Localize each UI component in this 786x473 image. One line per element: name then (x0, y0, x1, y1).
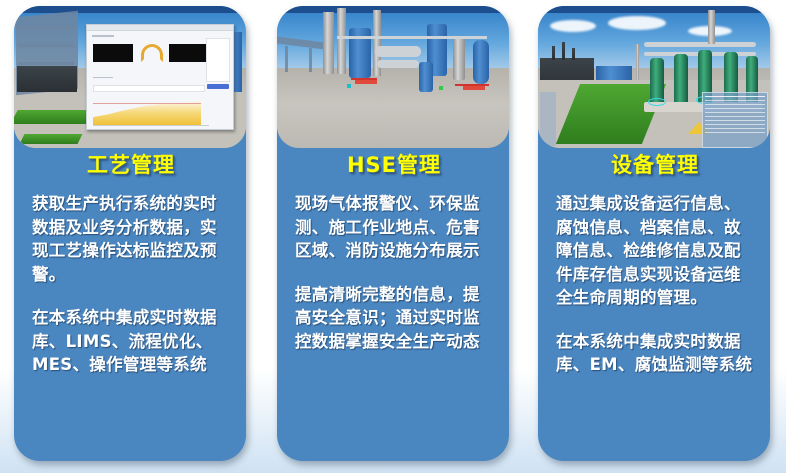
dashboard-chart-baseline (93, 125, 209, 126)
card-2-photo (277, 6, 509, 148)
panel-row (705, 100, 765, 102)
photo-building (17, 66, 77, 92)
card-1-photo (14, 6, 246, 148)
photo-steel-frame-2 (18, 26, 74, 29)
dashboard-area-chart (93, 97, 201, 125)
dashboard-filter-bar (93, 85, 205, 92)
photo-highlight-ring-1 (648, 98, 666, 106)
photo-menubar (14, 6, 246, 13)
photo-alarm-tag-2 (463, 86, 485, 90)
card-1-body: 工艺管理 获取生产执行系统的实时数据及业务分析数据，实现工艺操作达标监控及预警。… (14, 134, 246, 461)
card-3-paragraph-1: 通过集成设备运行信息、腐蚀信息、档案信息、故障信息、检维修信息及配件库存信息实现… (556, 192, 754, 310)
photo-vertical-pipe (708, 10, 715, 44)
photo-stack-3 (572, 48, 575, 60)
panel-row (705, 120, 765, 122)
photo-vessel-4 (473, 40, 489, 84)
card-equipment-management[interactable]: 设备管理 通过集成设备运行信息、腐蚀信息、档案信息、故障信息、检维修信息及配件库… (538, 6, 770, 461)
photo-cloud-2 (608, 16, 666, 30)
photo-gas-detector-marker (347, 84, 351, 88)
photo-pump-2 (674, 54, 688, 106)
photo-vessel-3 (453, 36, 465, 80)
photo-steel-frame-4 (18, 62, 74, 65)
dashboard-kpi-right (169, 44, 209, 62)
panel-row (705, 116, 765, 118)
dashboard-titlebar (87, 25, 233, 31)
photo-steel-frame-3 (18, 44, 74, 47)
panel-header-row (705, 96, 765, 98)
panel-row (705, 104, 765, 106)
photo-stack-1 (552, 46, 555, 60)
panel-row (705, 108, 765, 110)
photo-alarm-tag (355, 80, 377, 84)
dashboard-section-line (93, 77, 113, 78)
photo-stack-2 (562, 42, 565, 60)
panel-row (705, 128, 765, 130)
panel-row (705, 124, 765, 126)
card-3-body: 设备管理 通过集成设备运行信息、腐蚀信息、档案信息、故障信息、检维修信息及配件库… (538, 134, 770, 461)
card-2-paragraph-1: 现场气体报警仪、环保监测、施工作业地点、危害区域、消防设施分布展示 (295, 192, 493, 263)
photo-pipe-run (337, 36, 487, 39)
photo-column-1 (323, 12, 334, 74)
photo-gas-detector-marker-2 (439, 86, 443, 90)
photo-far-unit (596, 66, 632, 80)
card-3-paragraph-2: 在本系统中集成实时数据库、EM、腐蚀监测等系统 (556, 330, 754, 377)
photo-cloud-1 (550, 20, 596, 32)
card-2-paragraph-2: 提高清晰完整的信息，提高安全意识；通过实时监控数据掌握安全生产动态 (295, 283, 493, 354)
photo-column-2 (337, 8, 346, 74)
card-1-paragraph-2: 在本系统中集成实时数据库、LIMS、流程优化、MES、操作管理等系统 (32, 306, 230, 377)
card-3-photo (538, 6, 770, 148)
card-row: 工艺管理 获取生产执行系统的实时数据及业务分析数据，实现工艺操作达标监控及预警。… (0, 0, 786, 473)
photo-menubar (277, 6, 509, 13)
photo-pipe-rack-leg (285, 46, 288, 72)
photo-flare-stack (636, 44, 639, 82)
dashboard-heading-line (92, 35, 114, 37)
panel-row (705, 112, 765, 114)
photo-horizontal-drum-2 (377, 60, 419, 68)
card-1-paragraph-1: 获取生产执行系统的实时数据及业务分析数据，实现工艺操作达标监控及预警。 (32, 192, 230, 286)
card-2-body: HSE管理 现场气体报警仪、环保监测、施工作业地点、危害区域、消防设施分布展示 … (277, 134, 509, 461)
dashboard-chart-redline (93, 103, 201, 104)
photo-menubar (538, 6, 770, 13)
photo-dashboard-window (86, 24, 234, 130)
card-2-title: HSE管理 (295, 152, 493, 178)
panel-row (705, 132, 765, 134)
dashboard-side-panel (206, 38, 230, 82)
card-3-title: 设备管理 (556, 152, 754, 178)
card-hse-management[interactable]: HSE管理 现场气体报警仪、环保监测、施工作业地点、危害区域、消防设施分布展示 … (277, 6, 509, 461)
photo-grass (14, 110, 96, 124)
photo-horizontal-drum (375, 46, 421, 57)
photo-pipe-rack-leg-2 (309, 48, 312, 72)
dashboard-action-button (207, 84, 229, 89)
photo-overhead-pipe (644, 42, 756, 47)
dashboard-kpi-left (93, 44, 133, 62)
photo-vessel-5 (419, 62, 433, 92)
card-process-management[interactable]: 工艺管理 获取生产执行系统的实时数据及业务分析数据，实现工艺操作达标监控及预警。… (14, 6, 246, 461)
dashboard-gauge (141, 44, 163, 62)
card-1-title: 工艺管理 (32, 152, 230, 178)
